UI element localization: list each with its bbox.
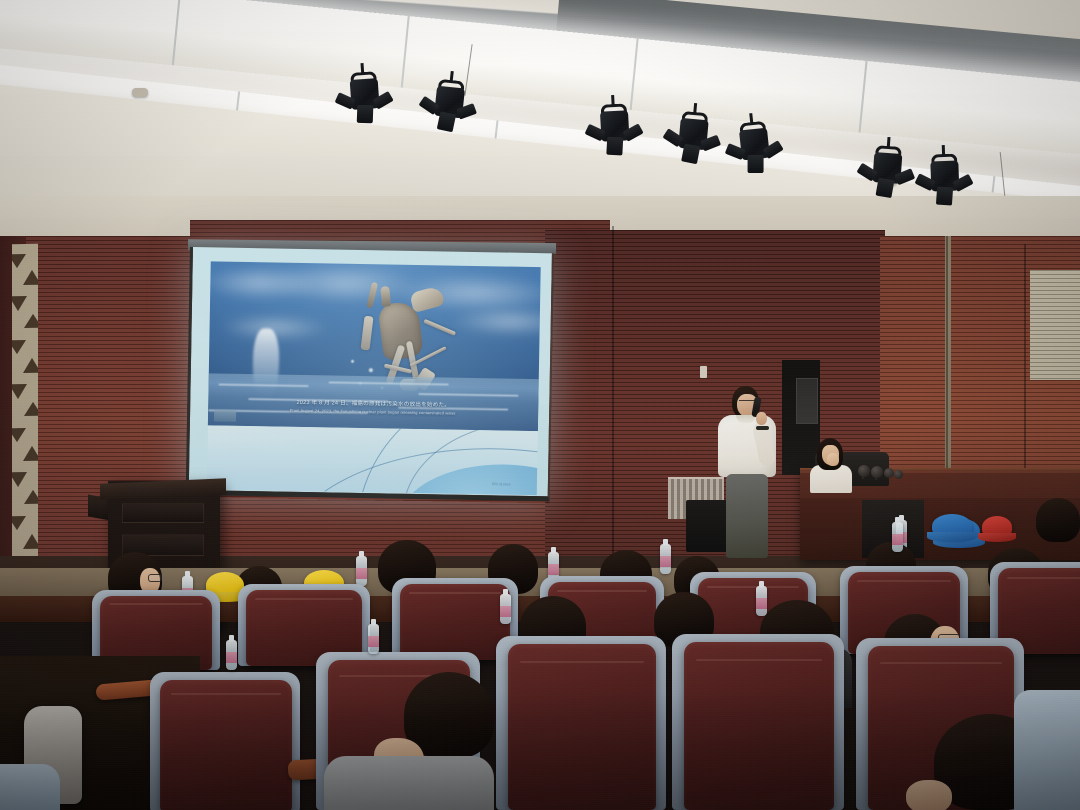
slide-artwork: 2023 年 8 月 24 日、福島の原発は汚染水の放出を始めた。 From A… — [208, 261, 541, 431]
ceiling — [0, 0, 1080, 250]
wall-switch-icon[interactable] — [700, 366, 707, 378]
presenter-trousers — [726, 474, 768, 558]
presenter — [716, 386, 782, 562]
door-panel — [796, 378, 818, 424]
auditorium-photo: 2023 年 8 月 24 日、福島の原発は汚染水の放出を始めた。 From A… — [0, 0, 1080, 810]
seat-back — [400, 584, 510, 660]
decorative-lattice-column — [12, 244, 38, 564]
wall-corner-light-panel — [1030, 270, 1080, 380]
hard-hat-blue — [932, 514, 972, 538]
seated-moderator — [810, 438, 854, 488]
stage-spotlight — [868, 145, 906, 201]
stage-spotlight — [429, 78, 468, 135]
microphone-cluster — [858, 465, 904, 483]
presenter-hand — [756, 412, 767, 425]
screen-surface: 2023 年 8 月 24 日、福島の原発は汚染水の放出を始めた。 From A… — [186, 247, 554, 501]
seat-back — [160, 680, 292, 810]
seat-back — [508, 644, 656, 810]
water-bottle — [756, 586, 767, 616]
wallpaper-watermark: Windows — [492, 481, 511, 486]
wristwatch-icon — [756, 426, 769, 430]
audience-head — [1036, 498, 1080, 542]
audience-torso — [324, 756, 494, 810]
smoke-detector-icon — [132, 88, 148, 97]
water-bottle — [660, 544, 671, 574]
projection-screen: 2023 年 8 月 24 日、福島の原発は汚染水の放出を始めた。 From A… — [186, 247, 554, 503]
glasses-icon — [148, 574, 162, 582]
water-bottle — [226, 640, 237, 670]
water-bottle — [892, 522, 903, 552]
stage-spotlight — [346, 71, 384, 127]
stage-spotlight — [674, 111, 713, 168]
stage-spotlight — [597, 103, 634, 159]
audience-torso — [0, 764, 60, 810]
desktop-wallpaper-strip: Windows — [207, 425, 538, 495]
stage-spotlight — [927, 153, 963, 208]
water-bottle — [500, 594, 511, 624]
audience-hand — [906, 780, 952, 810]
audience-torso — [1014, 690, 1080, 810]
water-bottle — [368, 624, 379, 654]
seat-back — [684, 642, 834, 810]
wall-panel-seam — [612, 226, 614, 574]
lectern-panel — [122, 503, 204, 523]
stage-spotlight — [735, 120, 774, 177]
moderator-hand — [827, 453, 839, 466]
water-bottle — [356, 556, 367, 586]
hard-hat-red — [982, 516, 1012, 538]
